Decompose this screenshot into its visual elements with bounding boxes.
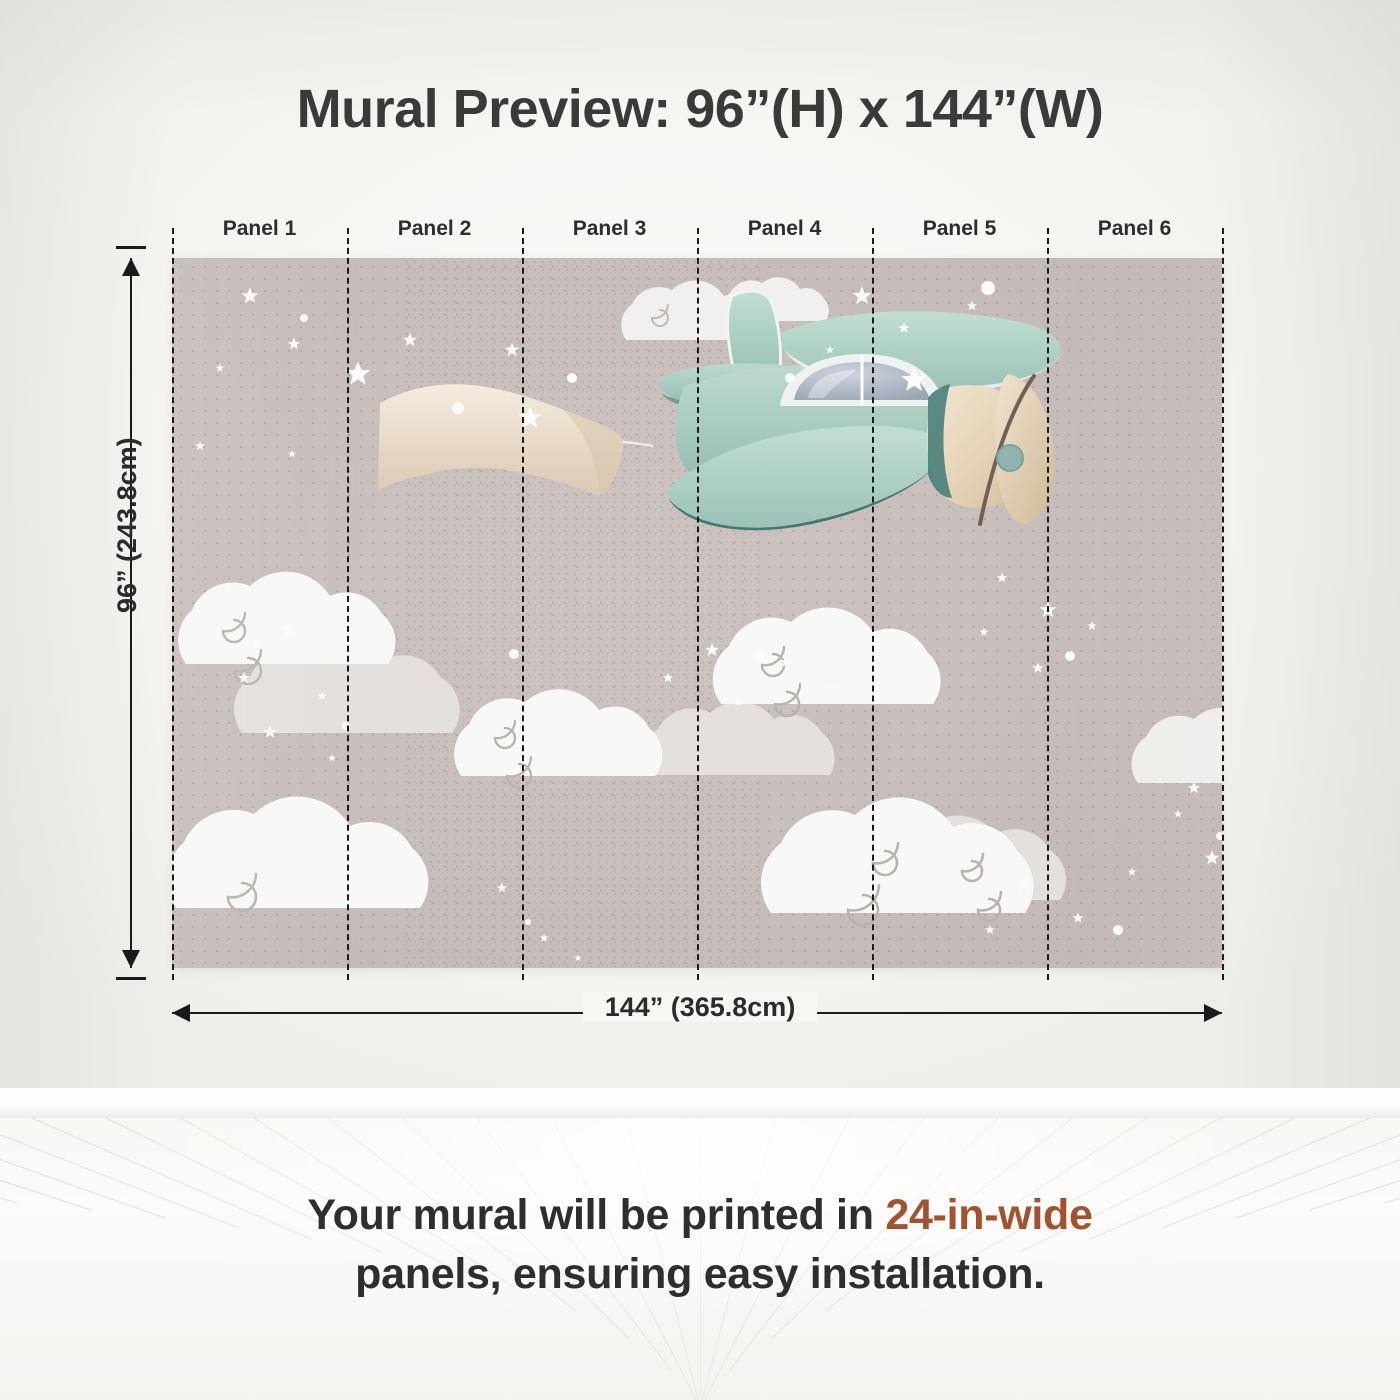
caption-accent-text: 24-in-wide <box>885 1191 1092 1239</box>
width-dimension-text: 144” (365.8cm) <box>583 992 818 1022</box>
panel-label-5: Panel 5 <box>872 212 1047 246</box>
panel-label-6: Panel 6 <box>1047 212 1222 246</box>
panel-seam-5 <box>1047 228 1049 980</box>
caption-line-2: panels, ensuring easy installation. <box>0 1245 1400 1304</box>
page-title: Mural Preview: 96”(H) x 144”(W) <box>0 78 1400 140</box>
height-dimension-arrow <box>130 258 132 968</box>
panel-seam-1 <box>347 228 349 980</box>
wall-right-shading <box>1200 0 1400 1100</box>
panel-seam-2 <box>522 228 524 980</box>
height-dimension-label: 96” (243.8cm) <box>112 437 143 613</box>
panel-label-2: Panel 2 <box>347 212 522 246</box>
baseboard <box>0 1088 1400 1120</box>
mural-preview-page: Mural Preview: 96”(H) x 144”(W) Panel 1 … <box>0 0 1400 1400</box>
panel-seam-0 <box>172 228 174 980</box>
panel-seam-3 <box>697 228 699 980</box>
installation-caption: Your mural will be printed in 24-in-wide… <box>0 1186 1400 1305</box>
wall-left-shading <box>0 0 180 1100</box>
panel-seam-4 <box>872 228 874 980</box>
panel-label-3: Panel 3 <box>522 212 697 246</box>
height-tick-top <box>116 246 146 249</box>
height-arrow-head-down <box>122 950 140 968</box>
panel-label-1: Panel 1 <box>172 212 347 246</box>
panel-label-4: Panel 4 <box>697 212 872 246</box>
panel-seam-6 <box>1222 228 1224 980</box>
height-tick-bottom <box>116 977 146 980</box>
caption-line-1: Your mural will be printed in 24-in-wide <box>0 1186 1400 1245</box>
height-arrow-head-up <box>122 258 140 276</box>
caption-text-before: Your mural will be printed in <box>307 1191 885 1239</box>
width-dimension-label: 144” (365.8cm) <box>0 992 1400 1023</box>
